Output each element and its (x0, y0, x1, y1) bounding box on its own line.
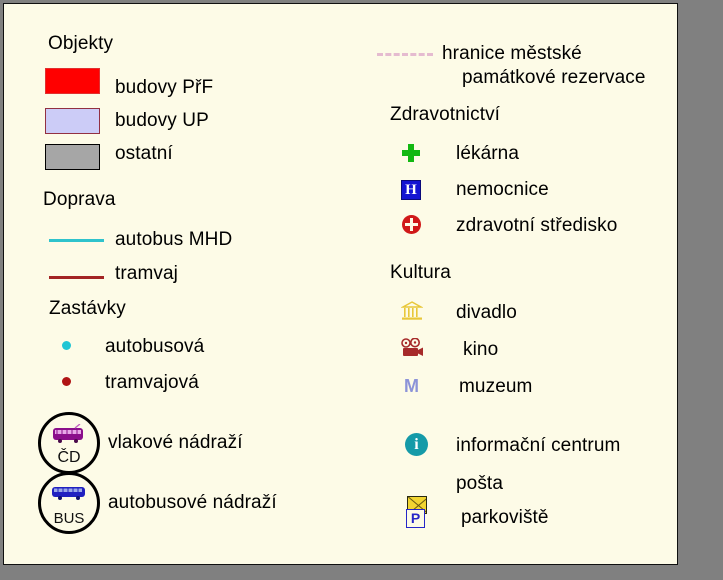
label-parkoviste: parkoviště (461, 507, 549, 529)
label-zdravotni-stredisko: zdravotní středisko (456, 215, 617, 237)
station-code-bus: BUS (41, 511, 97, 526)
label-lekarna: lékárna (456, 143, 519, 165)
label-ostatni: ostatní (115, 143, 173, 165)
train-station-circle-icon: ČD (38, 412, 100, 474)
label-muzeum: muzeum (459, 376, 532, 398)
label-hranice-mestske-pamatkove-rezervace: hranice městské památkové rezervace (442, 42, 678, 91)
swatch-budovy-prf (45, 68, 100, 94)
group-title-doprava: Doprava (43, 189, 116, 211)
parking-p-icon: P (406, 509, 425, 528)
museum-m-icon: M (404, 377, 419, 395)
group-title-objekty: Objekty (48, 33, 113, 55)
label-nemocnice: nemocnice (456, 179, 549, 201)
label-autobusove-nadrazi: autobusové nádraží (108, 492, 277, 514)
label-autobus-mhd: autobus MHD (115, 229, 232, 251)
clinic-cross-circle-icon (402, 215, 421, 234)
line-sample-autobus-mhd (49, 239, 104, 242)
label-tramvaj: tramvaj (115, 263, 178, 285)
label-kino: kino (463, 339, 498, 361)
legend-panel: Objekty budovy PřF budovy UP ostatní Dop… (3, 3, 678, 565)
group-title-zdravotnictvi: Zdravotnictví (390, 104, 500, 126)
label-informacni-centrum: informační centrum (456, 435, 620, 457)
dot-zastavka-autobusova (62, 341, 71, 350)
station-code-cd: ČD (41, 450, 97, 466)
label-hranice-line1: hranice městské (442, 43, 582, 64)
group-title-kultura: Kultura (390, 262, 451, 284)
theatre-building-icon (401, 301, 423, 326)
group-title-zastavky: Zastávky (49, 298, 126, 320)
tram-vehicle-icon (51, 424, 87, 449)
label-zastavka-autobusova: autobusová (105, 336, 204, 358)
dashed-line-hranice (377, 53, 433, 56)
info-circle-icon: i (405, 433, 428, 456)
label-zastavka-tramvajova: tramvajová (105, 372, 199, 394)
green-cross-icon (400, 143, 422, 170)
label-posta: pošta (456, 473, 503, 495)
hospital-h-icon: H (401, 180, 421, 200)
label-divadlo: divadlo (456, 302, 517, 324)
line-sample-tramvaj (49, 276, 104, 279)
dot-zastavka-tramvajova (62, 377, 71, 386)
swatch-ostatni (45, 144, 100, 170)
label-vlakove-nadrazi: vlakové nádraží (108, 432, 243, 454)
movie-camera-icon (400, 338, 424, 365)
bus-station-circle-icon: BUS (38, 472, 100, 534)
swatch-budovy-up (45, 108, 100, 134)
map-legend: Objekty budovy PřF budovy UP ostatní Dop… (0, 0, 723, 580)
label-budovy-prf: budovy PřF (115, 77, 213, 99)
bus-vehicle-icon (50, 484, 88, 507)
label-budovy-up: budovy UP (115, 110, 209, 132)
label-hranice-line2: památkové rezervace (462, 66, 678, 90)
